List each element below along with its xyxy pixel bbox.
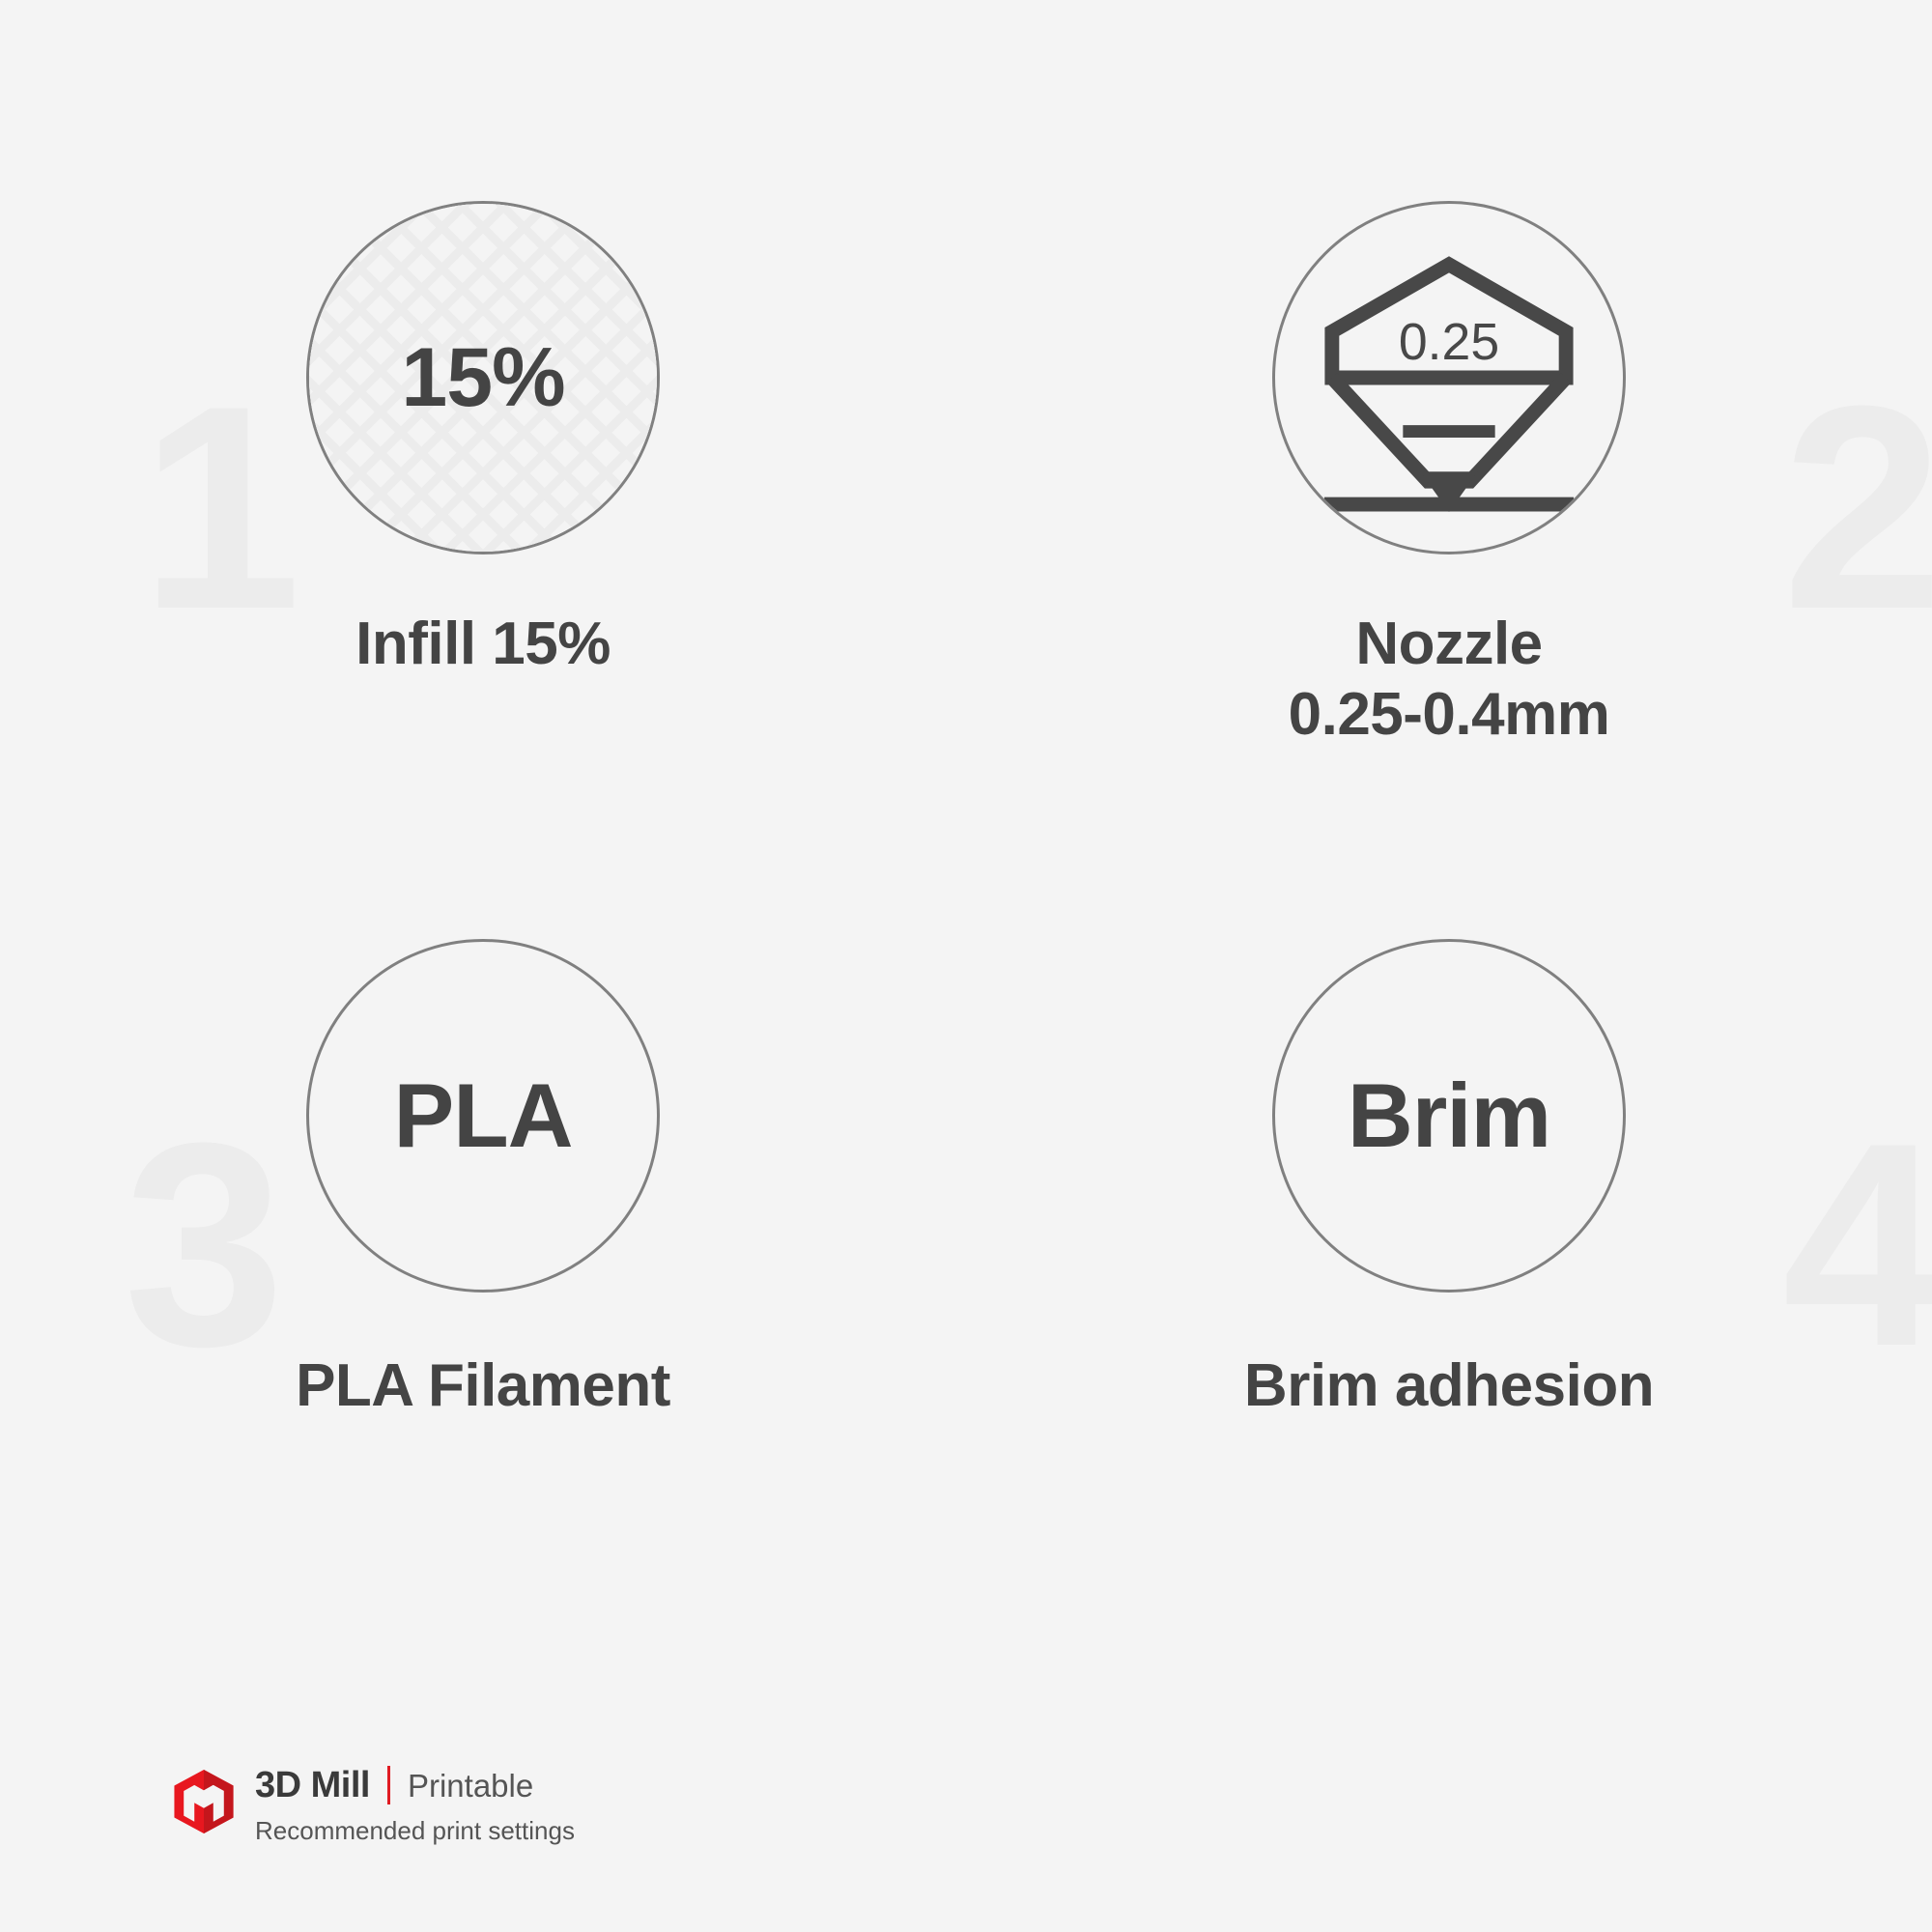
- filament-material-value: PLA: [394, 1070, 573, 1161]
- card-caption-nozzle: Nozzle 0.25-0.4mm: [1289, 609, 1610, 750]
- 3d-cube-logo-icon: [174, 1770, 234, 1833]
- badge-circle-infill: 15%: [306, 201, 660, 554]
- nozzle-icon: 0.25: [1315, 243, 1583, 512]
- badge-circle-filament: PLA: [306, 939, 660, 1293]
- brand-divider: [387, 1766, 390, 1804]
- card-nozzle: 2 0.25 Nozzle 0.25-0.4mm: [966, 145, 1932, 898]
- step-number-watermark: 1: [140, 362, 294, 652]
- step-number-watermark: 2: [1782, 362, 1932, 652]
- settings-grid: 1 15% Infill 15% 2 0.25: [0, 145, 1932, 1652]
- badge-circle-adhesion: Brim: [1272, 939, 1626, 1293]
- card-caption-infill: Infill 15%: [355, 609, 611, 679]
- card-caption-filament: PLA Filament: [296, 1350, 670, 1421]
- card-caption-adhesion: Brim adhesion: [1244, 1350, 1654, 1421]
- step-number-watermark: 3: [124, 1099, 277, 1389]
- infill-percent-value: 15%: [401, 336, 564, 419]
- brand-name: 3D Mill: [255, 1767, 370, 1804]
- brand-sub-label: Printable: [408, 1770, 533, 1802]
- card-adhesion: 4 Brim Brim adhesion: [966, 898, 1932, 1652]
- adhesion-type-value: Brim: [1348, 1070, 1550, 1161]
- card-filament: 3 PLA PLA Filament: [0, 898, 966, 1652]
- footer-tagline: Recommended print settings: [255, 1818, 575, 1843]
- step-number-watermark: 4: [1782, 1099, 1932, 1389]
- footer-branding: 3D Mill Printable Recommended print sett…: [174, 1766, 575, 1843]
- badge-circle-nozzle: 0.25: [1272, 201, 1626, 554]
- nozzle-diameter-label: 0.25: [1399, 313, 1499, 371]
- card-infill: 1 15% Infill 15%: [0, 145, 966, 898]
